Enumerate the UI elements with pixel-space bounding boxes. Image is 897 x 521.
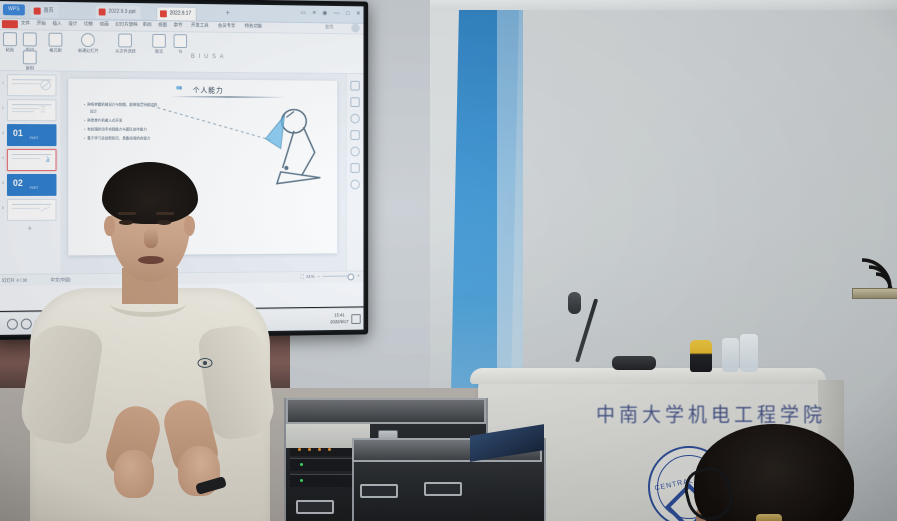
attendee-hairclip	[756, 514, 782, 521]
microphone-base	[612, 356, 656, 370]
menu-item-start[interactable]: 开始	[37, 21, 46, 27]
thumb-number: 2	[2, 106, 4, 110]
ribbon-paste-label: 粘贴	[3, 47, 17, 53]
ceiling-strip	[430, 0, 897, 10]
cover-art-icon	[39, 78, 53, 91]
water-bottle-1	[722, 338, 739, 372]
tab-file-1-label: 2022.9.3.ppt	[108, 9, 135, 15]
presenter-eye-left	[119, 220, 133, 225]
menu-item-section[interactable]: 章节	[174, 22, 183, 28]
italic-button[interactable]: I	[199, 54, 201, 60]
presenter-collar	[110, 290, 186, 317]
thumb-number: 3	[2, 131, 4, 135]
wps-app-badge-label: WPS	[3, 4, 25, 15]
menu-item-animation[interactable]: 动画	[100, 21, 109, 27]
tshirt-graphic-icon	[196, 356, 214, 372]
wps-app-badge: WPS	[3, 4, 25, 15]
list-item[interactable]: 1	[7, 74, 57, 96]
menu-item-slideshow[interactable]: 幻灯片放映	[115, 22, 137, 28]
section-sub: PART	[30, 136, 39, 140]
thumb-number: 5	[2, 181, 4, 185]
tab-file-2-active[interactable]: 2022.9.17	[156, 6, 197, 20]
tab-file-1[interactable]: 2022.9.3.ppt	[96, 5, 141, 18]
ribbon-formatbrush-label: 格式刷	[49, 48, 63, 54]
new-tab-button[interactable]: +	[225, 9, 233, 17]
ppt-file-icon	[99, 8, 106, 15]
wifi-antenna-icon	[856, 252, 896, 290]
toc-art-icon	[39, 103, 53, 116]
ribbon-insertfile-label: 从文件选择	[115, 48, 135, 54]
slide-bullet-3: •有较强的动手实践能力与团队协作能力	[84, 127, 147, 132]
menu-icon[interactable]: ≡	[312, 10, 315, 16]
seated-attendee	[660, 424, 875, 521]
list-item[interactable]: 2	[7, 99, 57, 121]
podium-top-surface	[470, 368, 826, 384]
zoom-out-button[interactable]: −	[317, 274, 319, 279]
shape-icon[interactable]	[350, 130, 359, 140]
fontcolor-button[interactable]: A	[220, 54, 224, 60]
presenter-nose	[144, 228, 158, 248]
maximize-button[interactable]: □	[346, 11, 349, 17]
presenter	[18, 150, 278, 521]
presenter-mouth	[138, 256, 164, 264]
section-number: 01	[13, 129, 23, 138]
water-bottle-2	[740, 334, 758, 372]
new-slide-icon[interactable]	[82, 33, 96, 47]
avatar-icon[interactable]	[351, 24, 359, 33]
comment-icon[interactable]	[350, 147, 359, 157]
home-icon	[34, 8, 41, 15]
zoom-controls: ⛶ 41% − +	[301, 274, 360, 279]
tab-file-2-label: 2022.9.17	[170, 10, 191, 16]
more-icon[interactable]	[350, 180, 359, 190]
zoom-in-button[interactable]: +	[357, 274, 359, 279]
insert-file-icon[interactable]	[119, 33, 133, 47]
cloud-icon[interactable]	[7, 319, 18, 330]
presenter-ear-left	[104, 216, 115, 236]
menu-item-file[interactable]: 文件	[21, 20, 30, 26]
scissors-icon[interactable]	[23, 32, 37, 46]
section-icon[interactable]	[174, 34, 188, 48]
wps-ribbon: 粘贴 剪切 复制 格式刷	[0, 30, 363, 74]
text-box-icon[interactable]	[350, 97, 359, 107]
picture-icon[interactable]	[350, 114, 359, 124]
thumb-number: 4	[2, 156, 4, 160]
collaborate-icon[interactable]: ▭	[300, 9, 305, 16]
rack-lid-left	[286, 398, 486, 424]
menu-item-features[interactable]: 特色功能	[245, 23, 263, 29]
zoom-slider-knob[interactable]	[348, 274, 355, 281]
paste-icon[interactable]	[3, 32, 17, 46]
ribbon-newslide-label: 新建幻灯片	[78, 48, 99, 54]
menu-item-transition[interactable]: 切换	[84, 21, 93, 27]
minimize-button[interactable]: —	[334, 10, 340, 16]
font-toolbar: B I U S A	[191, 54, 224, 60]
animation-icon[interactable]	[350, 163, 359, 173]
microphone-head	[568, 292, 581, 314]
search-input[interactable]: 查找	[325, 24, 334, 30]
account-icon[interactable]: ◉	[322, 10, 327, 17]
list-item[interactable]: 3 01 PART	[7, 124, 57, 146]
menu-item-view[interactable]: 视图	[158, 22, 167, 28]
tab-home[interactable]: 首页	[31, 5, 59, 18]
podium-institution-text: 中南大学机电工程学院	[596, 399, 826, 424]
clock-date: 2022/9/17	[330, 319, 348, 324]
design-ideas-icon[interactable]	[350, 81, 359, 91]
zoom-level: 41%	[306, 274, 314, 279]
ribbon-layout-label: 版式	[152, 49, 166, 55]
tab-home-label: 首页	[44, 8, 54, 14]
presenter-eyebrow-right	[156, 212, 174, 215]
fit-to-window-icon[interactable]: ⛶	[301, 274, 304, 279]
slide-bullet-2: •熟悉单片机嵌入式开发	[84, 118, 122, 123]
taskbar-clock[interactable]: 15:41 2022/9/17	[330, 312, 348, 325]
presenter-hair	[102, 162, 198, 224]
format-brush-icon[interactable]	[49, 33, 63, 47]
slide-title: 个人能力	[193, 85, 224, 95]
yellow-bottle	[690, 340, 712, 372]
idea-bulb-icon	[174, 84, 185, 93]
zoom-slider[interactable]	[323, 276, 355, 277]
ppt-file-icon	[160, 10, 167, 17]
rack-handle-right-1	[360, 484, 398, 498]
menu-item-devtools[interactable]: 开发工具	[191, 23, 209, 29]
menu-item-review[interactable]: 审阅	[143, 22, 152, 28]
wps-logo-icon	[2, 20, 18, 28]
menu-item-design[interactable]: 设计	[68, 21, 77, 27]
copy-icon[interactable]	[23, 50, 37, 64]
screenshot-root: WPS 首页 2022.9.3.ppt 2022.9.17 +	[0, 0, 897, 521]
thumb-number: 1	[2, 81, 4, 85]
right-tool-strip[interactable]	[346, 74, 364, 271]
window-controls: ▭ ≡ ◉ — □ ✕	[300, 9, 360, 17]
presenter-hand-left	[114, 450, 154, 498]
menu-item-insert[interactable]: 插入	[53, 21, 62, 27]
layout-icon[interactable]	[152, 34, 166, 48]
notification-icon[interactable]	[351, 314, 360, 324]
menu-item-member[interactable]: 会员专享	[218, 23, 236, 29]
clock-time: 15:41	[334, 312, 344, 317]
blue-wall-stripe-light	[497, 0, 523, 390]
rack-handle-right-2	[424, 482, 462, 496]
ribbon-section-label: 节	[174, 49, 188, 55]
rack-handle-left	[296, 500, 334, 514]
thumb-number: 6	[2, 206, 4, 210]
strike-button[interactable]: S	[212, 54, 216, 60]
presenter-eyebrow-left	[118, 212, 136, 215]
presenter-eye-right	[157, 220, 171, 225]
presenter-ear-right	[184, 216, 195, 236]
bold-button[interactable]: B	[191, 54, 195, 60]
close-button[interactable]: ✕	[356, 10, 361, 17]
slide-bullet-1b: 设计	[90, 109, 97, 114]
wall-sensor-bracket	[852, 288, 897, 299]
underline-button[interactable]: U	[204, 54, 208, 60]
